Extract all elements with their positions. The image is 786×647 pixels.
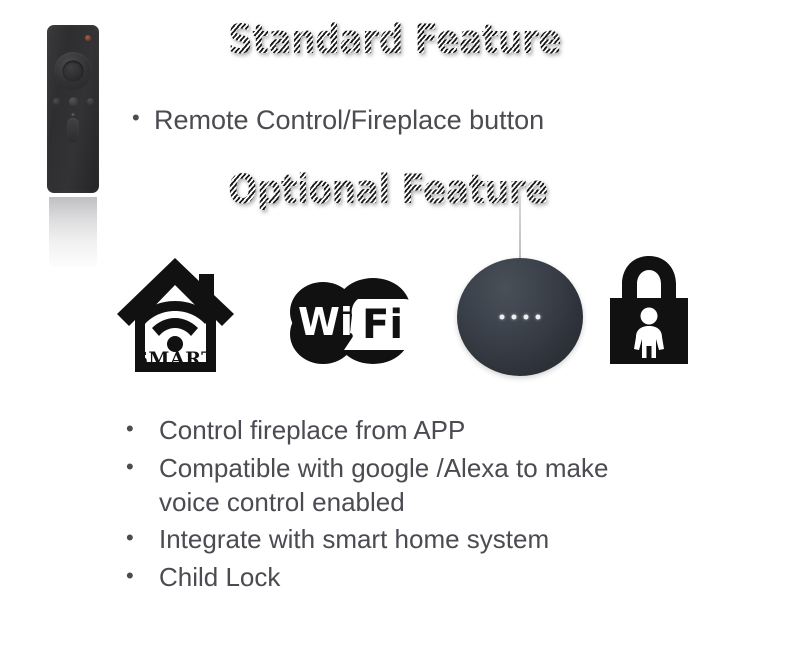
list-item-label: Compatible with google /Alexa to make vo… <box>159 452 608 520</box>
list-item-label: Child Lock <box>159 561 280 595</box>
remote-dpad-icon <box>54 52 92 90</box>
speaker-led-dots <box>500 315 541 320</box>
bullet-glyph: • <box>126 414 159 444</box>
remote-dpad-center <box>63 61 84 82</box>
bullet-glyph: • <box>126 452 159 482</box>
remote-indicator-dot <box>72 113 75 116</box>
remote-body <box>47 25 99 193</box>
remote-button-center <box>69 97 78 106</box>
list-item: • Remote Control/Fireplace button <box>132 103 544 138</box>
bullet-glyph: • <box>126 561 159 591</box>
smart-speaker-icon <box>440 196 600 384</box>
heading-standard-feature: Standard Feature <box>228 20 561 60</box>
smart-home-label: SMART <box>134 348 216 370</box>
list-item-label: Remote Control/Fireplace button <box>154 103 544 138</box>
list-item-label: Control fireplace from APP <box>159 414 465 448</box>
optional-feature-bullet-list: • Control fireplace from APP • Compatibl… <box>126 414 766 599</box>
bullet-glyph: • <box>132 103 154 133</box>
list-item: • Compatible with google /Alexa to make … <box>126 452 766 520</box>
list-item: • Control fireplace from APP <box>126 414 766 448</box>
smart-home-icon: SMART <box>113 254 238 379</box>
wifi-label-fi: Fi <box>362 302 403 348</box>
list-item: • Child Lock <box>126 561 766 595</box>
remote-power-button-icon <box>85 35 91 41</box>
remote-button-row <box>47 98 99 106</box>
remote-pill-button <box>67 118 79 143</box>
speaker-body <box>457 258 583 376</box>
child-lock-icon <box>608 254 690 366</box>
list-item-label: Integrate with smart home system <box>159 523 549 557</box>
wifi-label-wi: Wi <box>298 300 353 344</box>
wifi-logo-icon: Wi Fi <box>278 272 428 372</box>
slide-canvas: Standard Feature • Remote Control/Firepl… <box>0 0 786 647</box>
remote-button-right <box>87 98 94 105</box>
remote-button-left <box>53 98 60 105</box>
bullet-glyph: • <box>126 523 159 553</box>
optional-feature-icon-row: SMART Wi Fi <box>0 196 786 386</box>
speaker-cable <box>519 196 521 262</box>
list-item: • Integrate with smart home system <box>126 523 766 557</box>
